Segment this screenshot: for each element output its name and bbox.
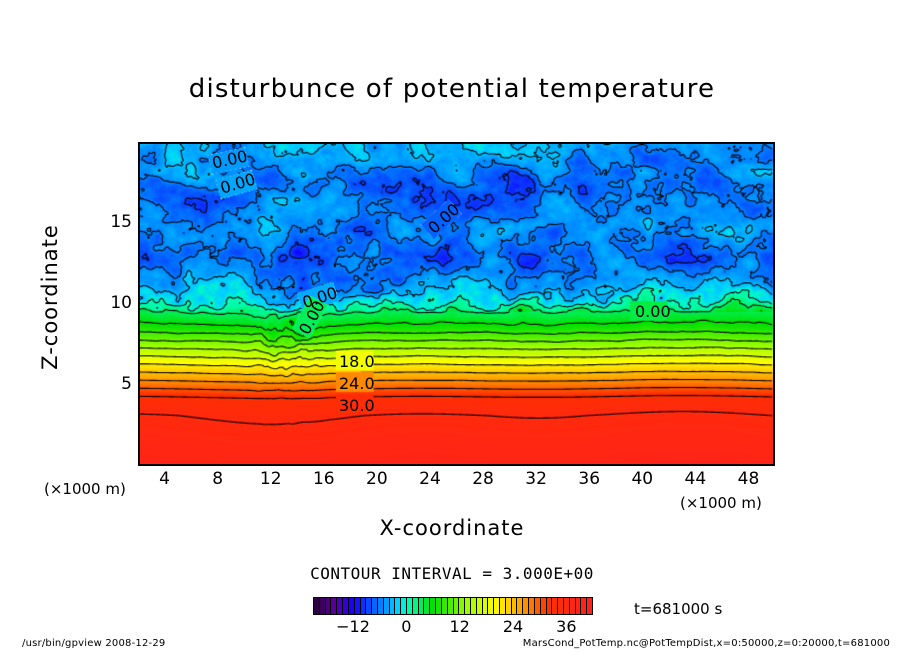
y-axis-tick-labels: 51015 — [88, 142, 132, 466]
contour-label-5: 0.00 — [635, 302, 671, 321]
time-label: t=681000 s — [634, 600, 722, 618]
x-tick-36: 36 — [569, 469, 609, 489]
footer-command: /usr/bin/gpview 2008-12-29 — [22, 638, 165, 649]
x-tick-12: 12 — [251, 469, 291, 489]
x-tick-40: 40 — [622, 469, 662, 489]
x-tick-16: 16 — [304, 469, 344, 489]
contour-interval-label: CONTOUR INTERVAL = 3.000E+00 — [0, 564, 904, 583]
colorbar-tick-0: 0 — [386, 617, 426, 636]
colorbar-swatch-47 — [587, 598, 592, 614]
y-tick-15: 15 — [110, 212, 132, 232]
x-axis-unit-left: (×1000 m) — [44, 480, 126, 498]
contour-plot-panel: 0.000.000.000.000.000.0018.024.030.0 — [138, 142, 775, 466]
footer-dataset: MarsCond_PotTemp.nc@PotTempDist,x=0:5000… — [523, 638, 890, 649]
chart-title: disturbunce of potential temperature — [0, 74, 904, 104]
y-axis-label: Z-coordinate — [38, 187, 62, 407]
x-tick-28: 28 — [463, 469, 503, 489]
contour-label-6: 18.0 — [339, 352, 375, 371]
colorbar-tick--12: −12 — [333, 617, 373, 636]
x-tick-20: 20 — [357, 469, 397, 489]
x-tick-4: 4 — [145, 469, 185, 489]
colorbar-tick-12: 12 — [440, 617, 480, 636]
x-tick-48: 48 — [728, 469, 768, 489]
x-axis-unit-right: (×1000 m) — [680, 494, 762, 512]
x-tick-24: 24 — [410, 469, 450, 489]
y-tick-5: 5 — [121, 374, 132, 394]
colorbar-tick-24: 24 — [493, 617, 533, 636]
x-axis-label: X-coordinate — [0, 516, 904, 540]
y-tick-10: 10 — [110, 293, 132, 313]
x-tick-32: 32 — [516, 469, 556, 489]
colorbar — [313, 597, 593, 615]
colorbar-tick-36: 36 — [546, 617, 586, 636]
contour-label-7: 24.0 — [339, 374, 375, 393]
x-tick-44: 44 — [675, 469, 715, 489]
x-tick-8: 8 — [198, 469, 238, 489]
contour-label-8: 30.0 — [339, 396, 375, 415]
